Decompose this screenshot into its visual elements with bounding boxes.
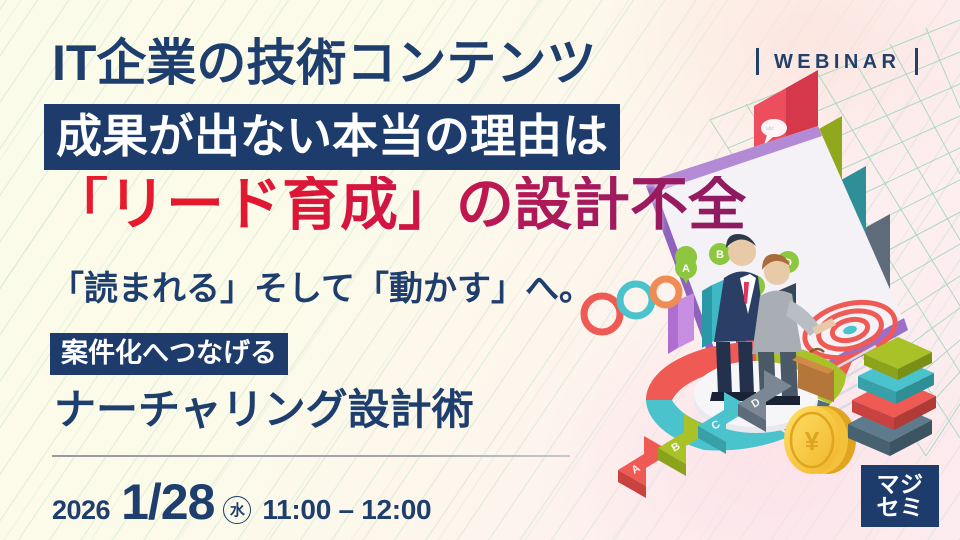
logo-line-1: マジ bbox=[877, 473, 924, 496]
svg-text:A: A bbox=[682, 263, 690, 275]
headline-line-1: IT企業の技術コンテンツ bbox=[52, 38, 596, 88]
svg-text:abc: abc bbox=[790, 170, 799, 176]
webinar-right-rule-icon bbox=[915, 48, 918, 75]
schedule-time: 11:00 – 12:00 bbox=[262, 494, 431, 526]
webinar-label-text: WEBINAR bbox=[774, 52, 900, 72]
svg-text:abc: abc bbox=[838, 270, 847, 276]
svg-text:D: D bbox=[784, 257, 792, 269]
svg-text:abc: abc bbox=[814, 220, 823, 226]
svg-text:A: A bbox=[630, 462, 643, 476]
subheadline-line-2: ナーチャリング設計術 bbox=[54, 389, 474, 431]
svg-text:B: B bbox=[716, 249, 724, 261]
majisemi-logo[interactable]: マジ セミ bbox=[861, 465, 939, 527]
webinar-label: WEBINAR bbox=[756, 48, 918, 75]
background-glow-top-right bbox=[600, 0, 960, 200]
schedule-year: 2026 bbox=[52, 495, 110, 526]
headline-line-2-wrapper: 成果が出ない本当の理由は bbox=[44, 104, 620, 170]
horizontal-divider bbox=[52, 455, 570, 457]
schedule-day-of-week: 水 bbox=[223, 496, 251, 524]
webinar-banner: abcabc abcabc bbox=[0, 0, 960, 540]
schedule-date: 1/28 bbox=[121, 477, 214, 527]
schedule-row: 2026 1/28 水 11:00 – 12:00 bbox=[52, 477, 431, 528]
headline-line-2: 成果が出ない本当の理由は bbox=[44, 104, 620, 170]
isometric-business-illustration: abcabc abcabc bbox=[560, 0, 960, 540]
svg-text:D: D bbox=[750, 396, 763, 410]
svg-text:B: B bbox=[670, 440, 683, 454]
subheadline-badge: 案件化へつなげる bbox=[50, 333, 288, 375]
headline-line-3: 「リード育成」の設計不全 bbox=[50, 176, 746, 234]
svg-text:¥: ¥ bbox=[805, 426, 820, 456]
subheadline-line-1: 「読まれる」そして「動かす」へ。 bbox=[50, 272, 593, 306]
svg-text:C: C bbox=[710, 418, 723, 432]
logo-line-2: セミ bbox=[877, 496, 924, 519]
webinar-left-rule-icon bbox=[756, 48, 759, 75]
svg-text:abc: abc bbox=[766, 126, 775, 132]
subheadline-badge-wrapper: 案件化へつなげる bbox=[50, 333, 288, 375]
svg-text:C: C bbox=[750, 281, 758, 293]
